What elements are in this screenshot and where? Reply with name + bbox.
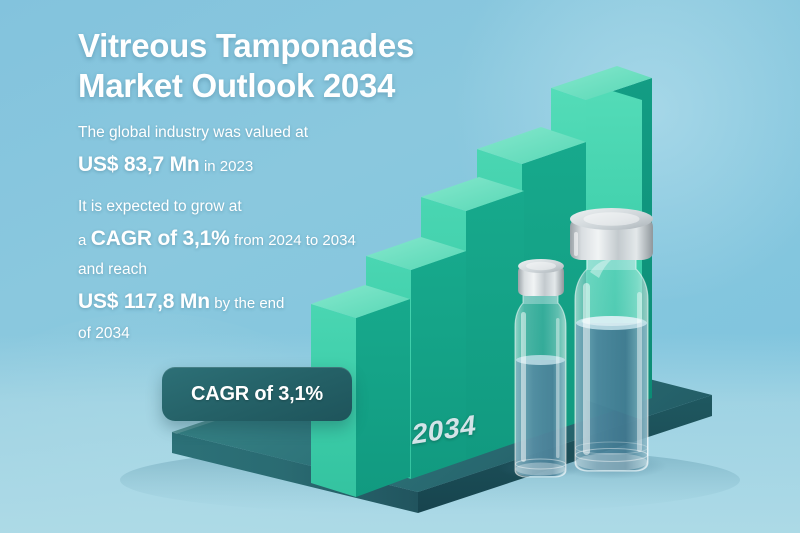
body-line-and-reach: and reach (78, 259, 478, 281)
title-line-2: Market Outlook 2034 (78, 67, 395, 104)
body-line-value-2034: US$ 117,8 Mn by the end (78, 287, 478, 317)
cagr-badge: CAGR of 3,1% (162, 367, 352, 421)
cagr-suffix: from 2024 to 2034 (234, 232, 356, 249)
title-line-1: Vitreous Tamponades (78, 27, 414, 64)
value-2034-suffix: by the end (214, 295, 284, 312)
page-title: Vitreous Tamponades Market Outlook 2034 (78, 26, 478, 106)
body-line-of-2034: of 2034 (78, 323, 478, 345)
vial-small (498, 259, 582, 479)
copy-block: Vitreous Tamponades Market Outlook 2034 … (78, 26, 478, 351)
body-line-valued-at: The global industry was valued at (78, 122, 478, 144)
background-glow-top-right (440, 0, 800, 300)
vial-large (555, 208, 667, 479)
cagr-badge-label: CAGR of 3,1% (191, 383, 323, 406)
background-floor (0, 333, 800, 533)
value-2034: US$ 117,8 Mn (78, 290, 210, 313)
bar-4 (477, 127, 586, 441)
body-line-cagr: a CAGR of 3,1% from 2024 to 2034 (78, 224, 478, 254)
value-2023: US$ 83,7 Mn (78, 153, 200, 176)
body-line-expected-to-grow: It is expected to grow at (78, 196, 478, 218)
platform-year-label: 2034 (411, 409, 478, 452)
body-line-value-2023: US$ 83,7 Mn in 2023 (78, 150, 478, 180)
cagr-prefix: a (78, 232, 86, 249)
value-2023-suffix: in 2023 (204, 158, 253, 175)
bar-5 (551, 66, 652, 420)
cagr-value: CAGR of 3,1% (91, 227, 230, 250)
infographic-canvas: 2034 (0, 0, 800, 533)
